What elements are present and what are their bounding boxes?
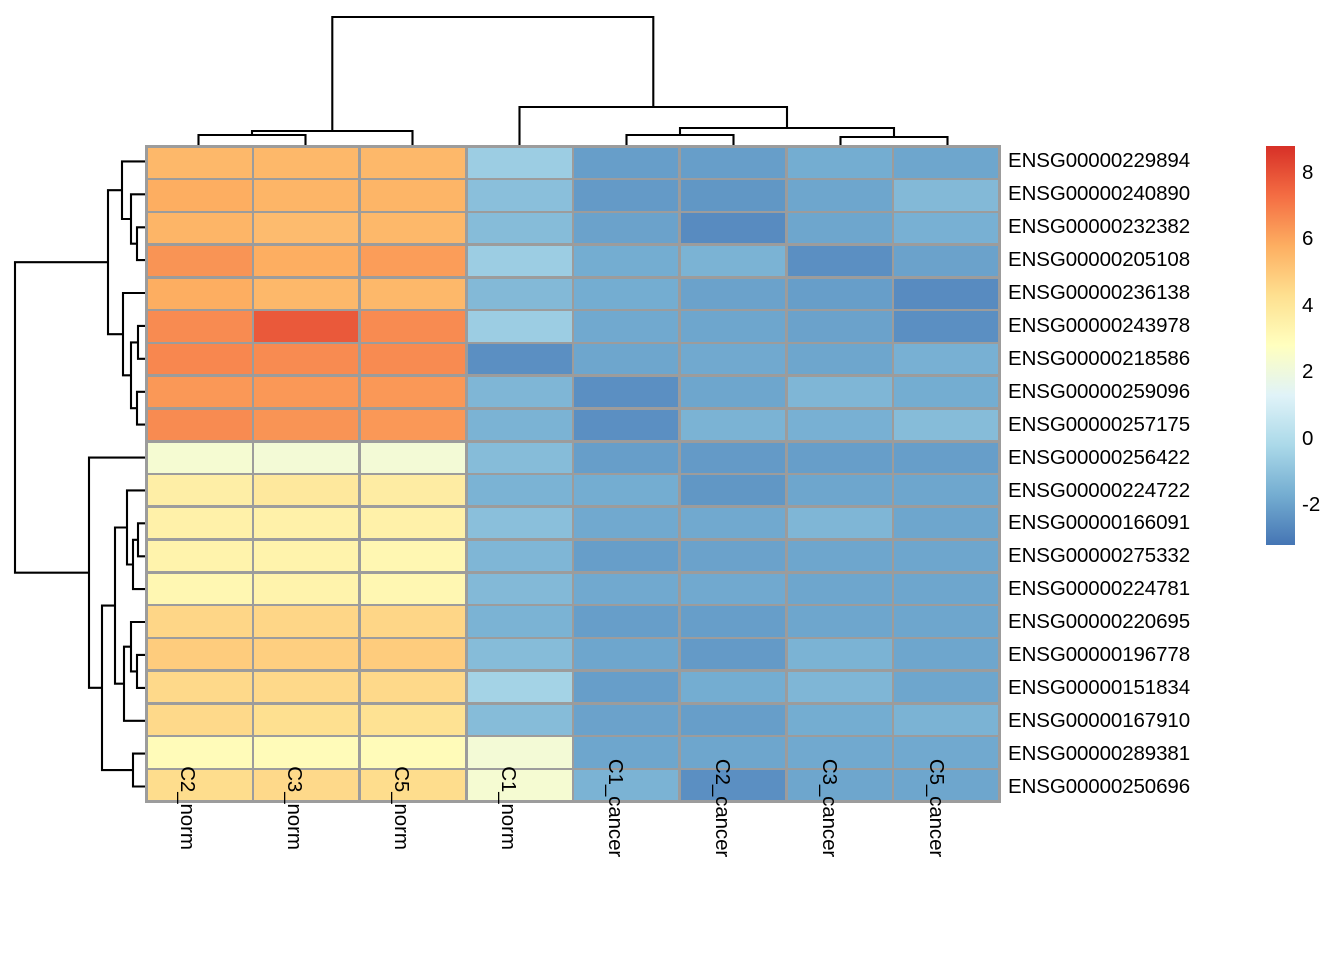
dendrogram-link [115,528,127,684]
dendrogram-link [123,293,145,375]
heatmap-cell[interactable] [574,279,678,309]
heatmap-cell[interactable] [788,311,892,341]
heatmap-cell[interactable] [574,311,678,341]
heatmap-cell[interactable] [468,410,572,440]
heatmap-cell[interactable] [468,344,572,374]
heatmap-cell[interactable] [681,311,785,341]
heatmap-cell[interactable] [788,475,892,505]
heatmap-cell[interactable] [361,639,465,669]
heatmap-cell[interactable] [361,475,465,505]
colorbar-tick-label: -2 [1302,493,1320,517]
heatmap-cell[interactable] [361,541,465,571]
column-label-cell: C2_cancer [680,806,787,956]
column-label-cell: C3_norm [252,806,359,956]
heatmap-cell[interactable] [788,606,892,636]
heatmap-cell[interactable] [361,705,465,735]
row-label: ENSG00000257175 [1008,408,1308,441]
heatmap-cell[interactable] [681,475,785,505]
heatmap-cell[interactable] [254,213,358,243]
dendrogram-link [252,131,413,145]
heatmap-cell[interactable] [254,443,358,473]
row-label: ENSG00000220695 [1008,606,1308,639]
dendrogram-link [133,754,145,787]
heatmap-cell[interactable] [681,148,785,178]
heatmap-cell[interactable] [574,443,678,473]
heatmap-cell[interactable] [788,180,892,210]
heatmap-cell[interactable] [361,410,465,440]
heatmap-cell[interactable] [361,443,465,473]
heatmap-cell[interactable] [361,279,465,309]
heatmap-cell[interactable] [254,574,358,604]
heatmap-cell[interactable] [574,508,678,538]
row-label: ENSG00000166091 [1008,507,1308,540]
heatmap-cell[interactable] [148,541,252,571]
heatmap-cell[interactable] [254,279,358,309]
heatmap-cell[interactable] [148,377,252,407]
heatmap-cell[interactable] [361,508,465,538]
heatmap-cell[interactable] [468,443,572,473]
dendrogram-link [627,135,734,145]
heatmap-cell[interactable] [148,410,252,440]
heatmap-cell[interactable] [788,213,892,243]
heatmap-cell[interactable] [468,246,572,276]
row-label: ENSG00000151834 [1008,672,1308,705]
heatmap-cell[interactable] [361,574,465,604]
heatmap-cell[interactable] [894,410,998,440]
row-label: ENSG00000167910 [1008,704,1308,737]
column-label-cell: C1_norm [466,806,573,956]
heatmap-cell[interactable] [894,508,998,538]
heatmap-cell[interactable] [254,541,358,571]
heatmap-cell[interactable] [894,574,998,604]
dendrogram-link [89,458,145,688]
heatmap-grid[interactable] [145,145,1001,803]
heatmap-cell[interactable] [894,148,998,178]
heatmap-cell[interactable] [148,344,252,374]
heatmap-cell[interactable] [254,770,358,800]
heatmap-cell[interactable] [468,213,572,243]
heatmap-cell[interactable] [468,606,572,636]
heatmap-cell[interactable] [574,344,678,374]
heatmap-cell[interactable] [148,737,252,767]
heatmap-cell[interactable] [254,672,358,702]
heatmap-cell[interactable] [894,311,998,341]
heatmap-cell[interactable] [681,443,785,473]
heatmap-cell[interactable] [788,410,892,440]
row-label: ENSG00000275332 [1008,540,1308,573]
heatmap-cell[interactable] [894,180,998,210]
heatmap-cell[interactable] [894,246,998,276]
heatmap-cell[interactable] [148,672,252,702]
heatmap-cell[interactable] [681,639,785,669]
heatmap-cell[interactable] [681,344,785,374]
colorbar-tick-label: 2 [1302,360,1313,384]
heatmap-cell[interactable] [148,148,252,178]
dendrogram-link [122,161,145,219]
heatmap-cell[interactable] [254,377,358,407]
heatmap-cell[interactable] [148,443,252,473]
dendrogram-link [137,655,145,688]
row-label: ENSG00000250696 [1008,770,1308,803]
column-labels: C2_normC3_normC5_normC1_normC1_cancerC2_… [145,806,1001,956]
heatmap-cell[interactable] [894,443,998,473]
heatmap-cell[interactable] [894,541,998,571]
dendrogram-link [137,227,145,260]
heatmap-cell[interactable] [148,246,252,276]
heatmap-cell[interactable] [361,180,465,210]
dendrogram-link [332,17,653,131]
dendrogram-link [199,135,306,145]
row-label: ENSG00000224781 [1008,573,1308,606]
heatmap-cell[interactable] [788,541,892,571]
column-label: C1_cancer [603,759,627,857]
heatmap-cell[interactable] [361,246,465,276]
heatmap-cell[interactable] [574,672,678,702]
heatmap-cell[interactable] [148,770,252,800]
expression-colorbar: 86420-2 [1266,146,1295,545]
heatmap-cell[interactable] [681,279,785,309]
heatmap-cell[interactable] [254,410,358,440]
heatmap-cell[interactable] [361,213,465,243]
heatmap-cell[interactable] [574,180,678,210]
colorbar-tick-label: 8 [1302,161,1313,185]
row-label: ENSG00000256422 [1008,441,1308,474]
heatmap-cell[interactable] [574,639,678,669]
clustermap-figure: ENSG00000229894ENSG00000240890ENSG000002… [0,0,1344,960]
heatmap-cell[interactable] [894,377,998,407]
heatmap-cell[interactable] [681,213,785,243]
heatmap-cell[interactable] [681,541,785,571]
heatmap-cell[interactable] [681,508,785,538]
dendrogram-link [520,107,788,145]
column-label-cell: C3_cancer [787,806,894,956]
column-label: C3_cancer [817,759,841,857]
heatmap-cell[interactable] [788,377,892,407]
heatmap-cell[interactable] [894,639,998,669]
row-label: ENSG00000289381 [1008,737,1308,770]
column-label-cell: C1_cancer [573,806,680,956]
dendrogram-link [108,190,123,334]
heatmap-cell[interactable] [148,311,252,341]
row-label: ENSG00000196778 [1008,639,1308,672]
colorbar-tick-label: 6 [1302,227,1313,251]
dendrogram-link [15,262,108,573]
row-dendrogram [0,145,145,803]
heatmap-cell[interactable] [468,475,572,505]
heatmap-cell[interactable] [468,377,572,407]
heatmap-cell[interactable] [468,311,572,341]
row-label: ENSG00000232382 [1008,211,1308,244]
heatmap-cell[interactable] [788,344,892,374]
heatmap-cell[interactable] [361,344,465,374]
dendrogram-link [138,523,145,556]
heatmap-cell[interactable] [148,606,252,636]
dendrogram-link [102,606,133,771]
heatmap-cell[interactable] [254,508,358,538]
heatmap-cell[interactable] [574,213,678,243]
colorbar-tick-label: 4 [1302,294,1313,318]
heatmap-cell[interactable] [468,705,572,735]
heatmap-cell[interactable] [254,311,358,341]
dendrogram-link [127,490,145,564]
heatmap-cell[interactable] [148,705,252,735]
heatmap-cell[interactable] [148,475,252,505]
heatmap-cell[interactable] [254,606,358,636]
column-dendrogram [145,0,1001,145]
heatmap-cell[interactable] [148,574,252,604]
heatmap-cell[interactable] [468,541,572,571]
column-label-cell: C5_cancer [894,806,1001,956]
heatmap-cell[interactable] [361,311,465,341]
heatmap-cell[interactable] [894,606,998,636]
heatmap-cell[interactable] [468,737,572,767]
heatmap-cell[interactable] [148,279,252,309]
heatmap-cell[interactable] [788,508,892,538]
row-label: ENSG00000224722 [1008,474,1308,507]
heatmap-cell[interactable] [894,705,998,735]
column-label: C3_norm [282,766,306,850]
heatmap-cell[interactable] [254,737,358,767]
heatmap-cell[interactable] [254,705,358,735]
heatmap-cell[interactable] [574,475,678,505]
heatmap-cell[interactable] [148,213,252,243]
row-label: ENSG00000236138 [1008,277,1308,310]
heatmap-cell[interactable] [788,246,892,276]
heatmap-cell[interactable] [361,148,465,178]
heatmap-cell[interactable] [894,344,998,374]
dendrogram-link [841,137,948,145]
column-label: C5_cancer [924,759,948,857]
heatmap-cell[interactable] [788,148,892,178]
heatmap-cell[interactable] [894,475,998,505]
heatmap-cell[interactable] [681,410,785,440]
row-label: ENSG00000243978 [1008,310,1308,343]
heatmap-cell[interactable] [254,148,358,178]
heatmap-cell[interactable] [788,443,892,473]
row-labels: ENSG00000229894ENSG00000240890ENSG000002… [1008,145,1308,803]
dendrogram-link [138,326,145,359]
heatmap-cell[interactable] [574,574,678,604]
heatmap-cell[interactable] [574,377,678,407]
column-label: C2_cancer [710,759,734,857]
heatmap-cell[interactable] [894,279,998,309]
heatmap-cell[interactable] [574,148,678,178]
heatmap-cell[interactable] [788,279,892,309]
heatmap-cell[interactable] [681,672,785,702]
heatmap-cell[interactable] [894,672,998,702]
heatmap-cell[interactable] [574,705,678,735]
heatmap-cell[interactable] [254,475,358,505]
heatmap-cell[interactable] [148,508,252,538]
heatmap-cell[interactable] [468,180,572,210]
heatmap-cell[interactable] [894,213,998,243]
column-label-cell: C2_norm [145,806,252,956]
heatmap-cell[interactable] [681,606,785,636]
heatmap-cell[interactable] [361,377,465,407]
heatmap-cell[interactable] [468,148,572,178]
heatmap-cell[interactable] [788,672,892,702]
heatmap-cell[interactable] [574,246,678,276]
column-label: C1_norm [496,766,520,850]
heatmap-cell[interactable] [468,508,572,538]
heatmap-cell[interactable] [681,377,785,407]
heatmap-cell[interactable] [788,639,892,669]
dendrogram-link [124,647,145,721]
heatmap-cell[interactable] [254,246,358,276]
heatmap-cell[interactable] [468,279,572,309]
heatmap-cell[interactable] [361,606,465,636]
heatmap-cell[interactable] [574,410,678,440]
heatmap-cell[interactable] [148,639,252,669]
heatmap-cell[interactable] [788,574,892,604]
colorbar-tick-label: 0 [1302,427,1313,451]
heatmap-cell[interactable] [681,574,785,604]
heatmap-cell[interactable] [148,180,252,210]
heatmap-cell[interactable] [574,541,678,571]
heatmap-cell[interactable] [361,672,465,702]
heatmap-cell[interactable] [468,574,572,604]
row-label: ENSG00000259096 [1008,375,1308,408]
column-label: C5_norm [389,766,413,850]
row-label: ENSG00000218586 [1008,342,1308,375]
column-label-cell: C5_norm [359,806,466,956]
heatmap-cell[interactable] [681,180,785,210]
colorbar-gradient [1266,146,1295,545]
heatmap-cell[interactable] [361,737,465,767]
dendrogram-link [137,392,145,425]
heatmap-cell[interactable] [468,639,572,669]
heatmap-cell[interactable] [254,639,358,669]
row-label: ENSG00000205108 [1008,244,1308,277]
heatmap-cell[interactable] [254,344,358,374]
heatmap-cell[interactable] [468,672,572,702]
heatmap-cell[interactable] [574,606,678,636]
heatmap-cell[interactable] [681,246,785,276]
heatmap-cell[interactable] [254,180,358,210]
row-label: ENSG00000240890 [1008,178,1308,211]
row-label: ENSG00000229894 [1008,145,1308,178]
heatmap-cell[interactable] [681,705,785,735]
column-label: C2_norm [175,766,199,850]
heatmap-cell[interactable] [788,705,892,735]
